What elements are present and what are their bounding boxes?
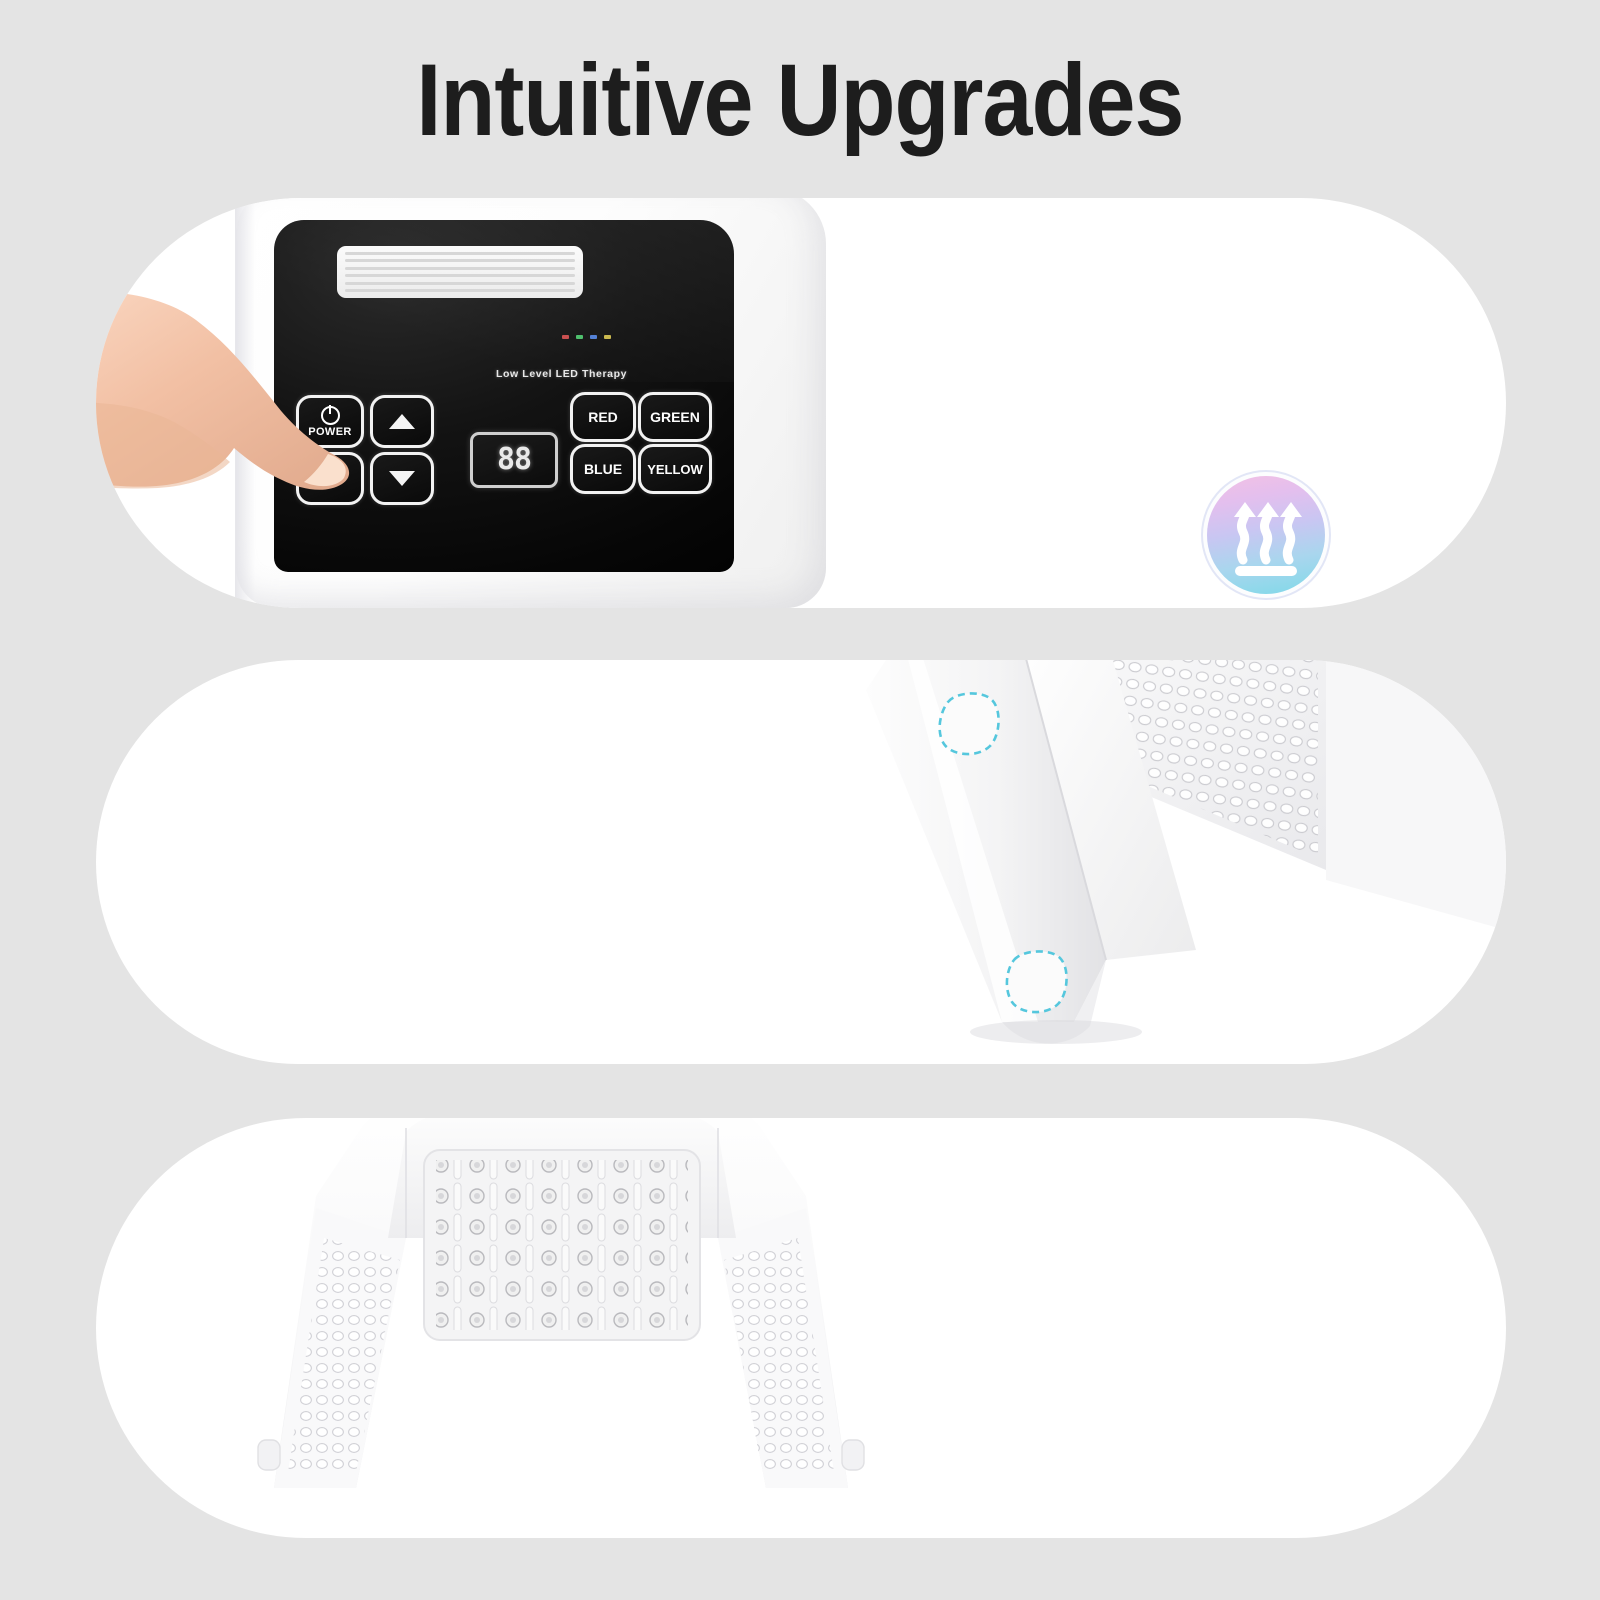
timer-display: 88 bbox=[470, 432, 558, 488]
red-mode-label: RED bbox=[588, 409, 618, 425]
green-mode-button[interactable]: GREEN bbox=[638, 392, 712, 442]
control-panel-photo: Low Level LED Therapy POWER 88 bbox=[96, 198, 916, 608]
rubber-foot-upper bbox=[940, 693, 999, 754]
blue-mode-label: BLUE bbox=[584, 461, 622, 477]
page-title: Intuitive Upgrades bbox=[96, 44, 1504, 156]
green-mode-label: GREEN bbox=[650, 409, 700, 425]
red-mode-button[interactable]: RED bbox=[570, 392, 636, 442]
yellow-mode-label: YELLOW bbox=[647, 462, 703, 477]
rubber-foot-lower bbox=[1007, 951, 1067, 1012]
feature-panel-feet: Slip Prevention Feet bbox=[96, 660, 1506, 1064]
heat-rising-icon bbox=[1207, 476, 1325, 594]
led-mask-photo bbox=[106, 1118, 966, 1538]
timer-display-value: 88 bbox=[497, 445, 531, 475]
feature-thermal-escape: Independent Thermal Escape Button bbox=[956, 476, 1506, 608]
slip-feet-photo bbox=[806, 660, 1506, 1064]
feature-panel-thermal: Low Level LED Therapy POWER 88 bbox=[96, 198, 1506, 608]
feature-panel-leds: 287 SMD LEDs bbox=[96, 1118, 1506, 1538]
pointing-hand bbox=[96, 286, 408, 586]
indicator-lights bbox=[562, 335, 611, 339]
yellow-mode-button[interactable]: YELLOW bbox=[638, 444, 712, 494]
brand-text: Low Level LED Therapy bbox=[496, 368, 627, 380]
blue-mode-button[interactable]: BLUE bbox=[570, 444, 636, 494]
